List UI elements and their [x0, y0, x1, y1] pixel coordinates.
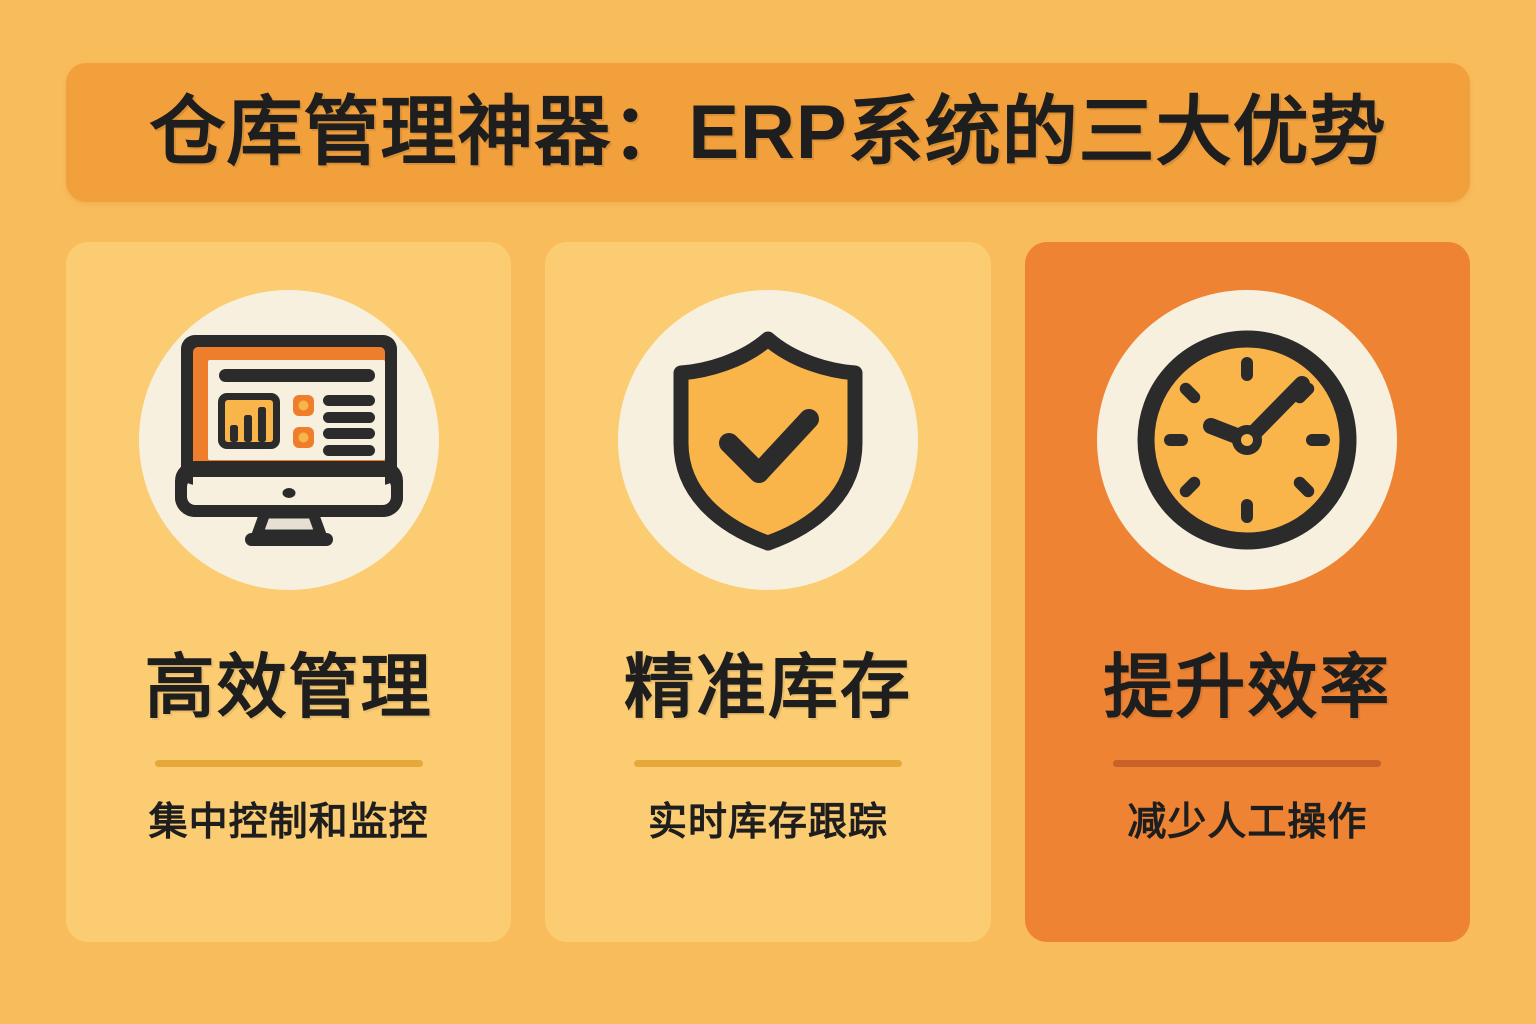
- feature-card-efficient-management[interactable]: 高效管理 集中控制和监控: [66, 242, 511, 942]
- card-title: 高效管理: [145, 652, 433, 722]
- feature-card-accurate-inventory[interactable]: 精准库存 实时库存跟踪: [545, 242, 990, 942]
- icon-badge: [618, 290, 918, 590]
- card-divider: [1113, 760, 1381, 767]
- card-title: 提升效率: [1103, 652, 1391, 722]
- page-title: 仓库管理神器：ERP系统的三大优势: [149, 95, 1386, 171]
- title-banner: 仓库管理神器：ERP系统的三大优势: [66, 63, 1470, 202]
- monitor-dashboard-icon: [173, 327, 405, 553]
- card-subtitle: 实时库存跟踪: [648, 803, 888, 842]
- shield-check-icon: [663, 327, 873, 553]
- icon-badge: [1097, 290, 1397, 590]
- icon-badge: [139, 290, 439, 590]
- feature-card-boost-efficiency[interactable]: 提升效率 减少人工操作: [1025, 242, 1470, 942]
- clock-icon: [1131, 324, 1363, 556]
- card-title: 精准库存: [624, 652, 912, 722]
- card-divider: [155, 760, 423, 767]
- card-subtitle: 集中控制和监控: [149, 803, 429, 842]
- card-subtitle: 减少人工操作: [1127, 803, 1367, 842]
- feature-cards-row: 高效管理 集中控制和监控 精准库存 实时库存跟踪: [66, 242, 1470, 942]
- card-divider: [634, 760, 902, 767]
